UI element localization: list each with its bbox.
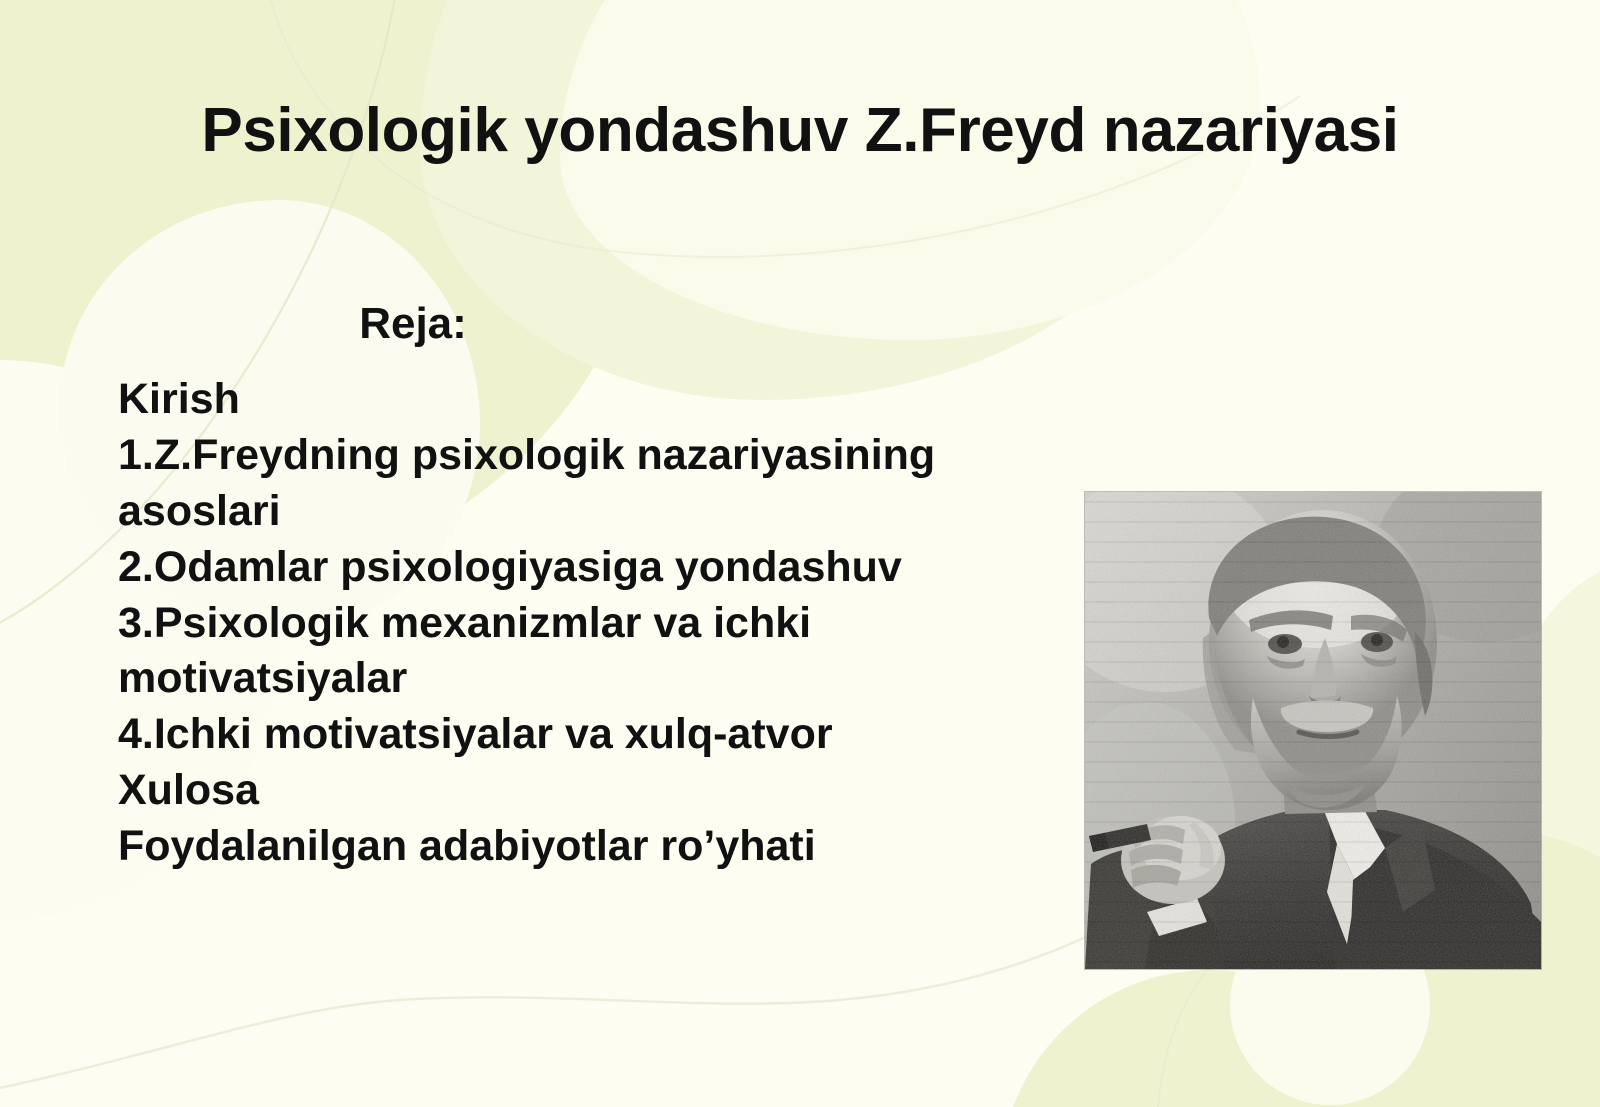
outline-line: 4.Ichki motivatsiyalar va xulq-atvor (118, 707, 1048, 763)
outline-line: Kirish (118, 372, 1048, 428)
background-blob-top-fade-inner (560, 0, 1260, 340)
outline-line: Foydalanilgan adabiyotlar ro’yhati (118, 819, 1048, 875)
outline-line: 1.Z.Freydning psixologik nazariyasining (118, 428, 1048, 484)
section-heading-reja: Reja: (118, 300, 1298, 348)
outline-line: 3.Psixologik mexanizmlar va ichki (118, 596, 1048, 652)
outline-line: 2.Odamlar psixologiyasiga yondashuv (118, 540, 1048, 596)
sigmund-freud-portrait (1085, 492, 1541, 969)
slide-canvas: Psixologik yondashuv Z.Freyd nazariyasi … (0, 0, 1600, 1107)
slide-title: Psixologik yondashuv Z.Freyd nazariyasi (0, 98, 1600, 163)
outline-line: asoslari (118, 484, 1048, 540)
background-blob-bottom-right-1 (1000, 970, 1420, 1107)
outline-line: Xulosa (118, 763, 1048, 819)
outline-line: motivatsiyalar (118, 651, 1048, 707)
outline-list: Kirish 1.Z.Freydning psixologik nazariya… (118, 372, 1048, 875)
